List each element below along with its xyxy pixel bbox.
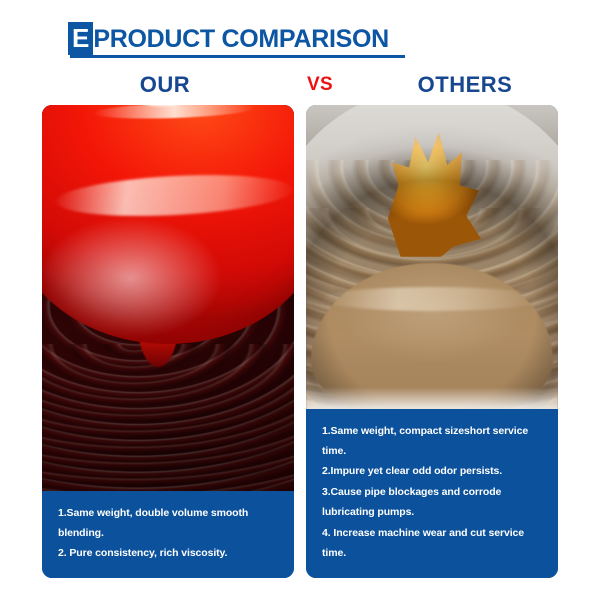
title-underline xyxy=(70,55,405,58)
our-blob-highlight-secondary xyxy=(93,105,256,121)
list-item: time. xyxy=(322,441,544,461)
list-item: 1.Same weight, compact sizeshort service xyxy=(322,421,544,441)
comparison-header-row: OUR VS OTHERS xyxy=(40,72,560,102)
list-item: blending. xyxy=(58,523,280,543)
others-drawbacks-panel: 1.Same weight, compact sizeshort service… xyxy=(306,409,558,579)
page-title: E PRODUCT COMPARISON xyxy=(68,22,389,55)
others-column-label: OTHERS xyxy=(340,72,590,98)
list-item: 3.Cause pipe blockages and corrode xyxy=(322,482,544,502)
list-item: 4. Increase machine wear and cut service xyxy=(322,523,544,543)
list-item: time. xyxy=(322,543,544,563)
list-item: 2.Impure yet clear odd odor persists. xyxy=(322,461,544,481)
our-benefits-panel: 1.Same weight, double volume smooth blen… xyxy=(42,491,294,579)
our-column-label: OUR xyxy=(40,72,290,98)
list-item: 2. Pure consistency, rich viscosity. xyxy=(58,543,280,563)
our-blob-highlight-primary xyxy=(55,169,294,220)
list-item: lubricating pumps. xyxy=(322,502,544,522)
list-item: 1.Same weight, double volume smooth xyxy=(58,503,280,523)
others-product-card: 1.Same weight, compact sizeshort service… xyxy=(306,105,558,578)
others-grease-photo xyxy=(306,105,558,409)
title-text: PRODUCT COMPARISON xyxy=(93,27,389,55)
our-ripple-rings-secondary xyxy=(42,344,294,491)
others-container-bottom-edge xyxy=(306,387,558,408)
our-red-grease-blob xyxy=(42,105,294,344)
our-grease-photo xyxy=(42,105,294,491)
our-product-card: 1.Same weight, double volume smooth blen… xyxy=(42,105,294,578)
title-badge-letter: E xyxy=(68,22,93,55)
others-container-rim xyxy=(306,105,558,409)
